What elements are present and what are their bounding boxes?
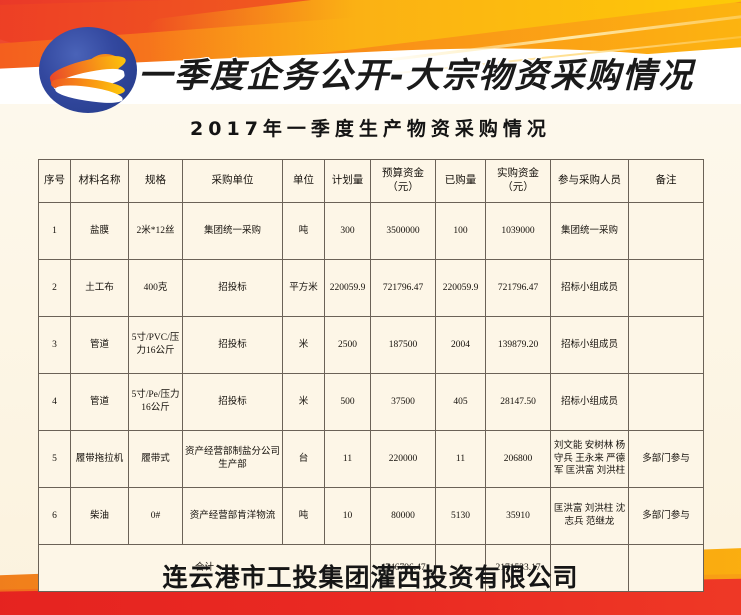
cell-unit: 台 bbox=[283, 431, 325, 488]
cell-people: 招标小组成员 bbox=[551, 260, 629, 317]
cell-spec: 0# bbox=[129, 488, 183, 545]
cell-unit: 米 bbox=[283, 317, 325, 374]
cell-purchase-unit: 招投标 bbox=[183, 260, 283, 317]
cell-unit: 吨 bbox=[283, 203, 325, 260]
cell-purchase-unit: 招投标 bbox=[183, 317, 283, 374]
cell-plan-qty: 500 bbox=[325, 374, 371, 431]
cell-remark: 多部门参与 bbox=[629, 431, 704, 488]
cell-spec: 履带式 bbox=[129, 431, 183, 488]
column-header-no: 序号 bbox=[39, 160, 71, 203]
column-header-material: 材料名称 bbox=[71, 160, 129, 203]
cell-spec: 2米*12丝 bbox=[129, 203, 183, 260]
cell-budget: 187500 bbox=[371, 317, 436, 374]
cell-remark bbox=[629, 317, 704, 374]
cell-spec: 5寸/PVC/压力16公斤 bbox=[129, 317, 183, 374]
cell-purchase-unit: 资产经营部制盐分公司生产部 bbox=[183, 431, 283, 488]
cell-material: 柴油 bbox=[71, 488, 129, 545]
cell-bought-qty: 220059.9 bbox=[436, 260, 486, 317]
cell-remark bbox=[629, 203, 704, 260]
cell-purchase-unit: 资产经营部肯洋物流 bbox=[183, 488, 283, 545]
footer-company-name: 连云港市工投集团灌西投资有限公司 bbox=[0, 558, 741, 594]
cell-unit: 平方米 bbox=[283, 260, 325, 317]
column-header-actual-line2: （元） bbox=[502, 182, 534, 193]
cell-unit: 米 bbox=[283, 374, 325, 431]
cell-plan-qty: 2500 bbox=[325, 317, 371, 374]
cell-people: 招标小组成员 bbox=[551, 317, 629, 374]
cell-remark: 多部门参与 bbox=[629, 488, 704, 545]
cell-actual: 721796.47 bbox=[486, 260, 551, 317]
table-header-row: 序号 材料名称 规格 采购单位 单位 计划量 预算资金 （元） 已购量 实购资金… bbox=[39, 160, 704, 203]
column-header-unit: 单位 bbox=[283, 160, 325, 203]
column-header-plan-qty: 计划量 bbox=[325, 160, 371, 203]
cell-plan-qty: 11 bbox=[325, 431, 371, 488]
column-header-budget: 预算资金 （元） bbox=[371, 160, 436, 203]
poster-page: 一季度企务公开-大宗物资采购情况 2017年一季度生产物资采购情况 序号 材料名… bbox=[0, 0, 741, 615]
cell-material: 管道 bbox=[71, 374, 129, 431]
cell-bought-qty: 405 bbox=[436, 374, 486, 431]
cell-no: 6 bbox=[39, 488, 71, 545]
cell-no: 2 bbox=[39, 260, 71, 317]
cell-actual: 139879.20 bbox=[486, 317, 551, 374]
cell-no: 1 bbox=[39, 203, 71, 260]
cell-no: 4 bbox=[39, 374, 71, 431]
cell-purchase-unit: 集团统一采购 bbox=[183, 203, 283, 260]
cell-plan-qty: 300 bbox=[325, 203, 371, 260]
cell-material: 履带拖拉机 bbox=[71, 431, 129, 488]
cell-budget: 220000 bbox=[371, 431, 436, 488]
column-header-budget-line2: （元） bbox=[387, 182, 419, 193]
cell-actual: 35910 bbox=[486, 488, 551, 545]
cell-remark bbox=[629, 374, 704, 431]
column-header-spec: 规格 bbox=[129, 160, 183, 203]
cell-remark bbox=[629, 260, 704, 317]
table-body: 1 盐膜 2米*12丝 集团统一采购 吨 300 3500000 100 103… bbox=[39, 203, 704, 592]
banner-title: 一季度企务公开-大宗物资采购情况 bbox=[138, 48, 694, 97]
cell-material: 土工布 bbox=[71, 260, 129, 317]
cell-people: 刘文能 安树林 杨守兵 王永来 严德军 匡洪富 刘洪柱 bbox=[551, 431, 629, 488]
column-header-actual-line1: 实购资金 bbox=[497, 168, 539, 179]
page-subtitle: 2017年一季度生产物资采购情况 bbox=[0, 114, 741, 141]
cell-people: 集团统一采购 bbox=[551, 203, 629, 260]
column-header-remark: 备注 bbox=[629, 160, 704, 203]
cell-budget: 721796.47 bbox=[371, 260, 436, 317]
procurement-table: 序号 材料名称 规格 采购单位 单位 计划量 预算资金 （元） 已购量 实购资金… bbox=[38, 159, 704, 592]
table-row: 5 履带拖拉机 履带式 资产经营部制盐分公司生产部 台 11 220000 11… bbox=[39, 431, 704, 488]
company-logo-icon bbox=[39, 27, 137, 113]
cell-bought-qty: 11 bbox=[436, 431, 486, 488]
cell-purchase-unit: 招投标 bbox=[183, 374, 283, 431]
cell-people: 招标小组成员 bbox=[551, 374, 629, 431]
cell-material: 管道 bbox=[71, 317, 129, 374]
cell-budget: 80000 bbox=[371, 488, 436, 545]
cell-material: 盐膜 bbox=[71, 203, 129, 260]
cell-bought-qty: 100 bbox=[436, 203, 486, 260]
cell-plan-qty: 10 bbox=[325, 488, 371, 545]
column-header-bought-qty: 已购量 bbox=[436, 160, 486, 203]
cell-bought-qty: 2004 bbox=[436, 317, 486, 374]
cell-no: 5 bbox=[39, 431, 71, 488]
table-header: 序号 材料名称 规格 采购单位 单位 计划量 预算资金 （元） 已购量 实购资金… bbox=[39, 160, 704, 203]
cell-plan-qty: 220059.9 bbox=[325, 260, 371, 317]
column-header-purchase-unit: 采购单位 bbox=[183, 160, 283, 203]
cell-budget: 3500000 bbox=[371, 203, 436, 260]
cell-unit: 吨 bbox=[283, 488, 325, 545]
column-header-people: 参与采购人员 bbox=[551, 160, 629, 203]
cell-spec: 400克 bbox=[129, 260, 183, 317]
table-row: 2 土工布 400克 招投标 平方米 220059.9 721796.47 22… bbox=[39, 260, 704, 317]
table-row: 4 管道 5寸/Pe/压力16公斤 招投标 米 500 37500 405 28… bbox=[39, 374, 704, 431]
procurement-table-wrapper: 序号 材料名称 规格 采购单位 单位 计划量 预算资金 （元） 已购量 实购资金… bbox=[38, 159, 703, 592]
cell-no: 3 bbox=[39, 317, 71, 374]
column-header-actual: 实购资金 （元） bbox=[486, 160, 551, 203]
cell-budget: 37500 bbox=[371, 374, 436, 431]
cell-actual: 1039000 bbox=[486, 203, 551, 260]
column-header-budget-line1: 预算资金 bbox=[382, 168, 424, 179]
table-row: 1 盐膜 2米*12丝 集团统一采购 吨 300 3500000 100 103… bbox=[39, 203, 704, 260]
cell-actual: 206800 bbox=[486, 431, 551, 488]
cell-people: 匡洪富 刘洪柱 沈志兵 范继龙 bbox=[551, 488, 629, 545]
cell-actual: 28147.50 bbox=[486, 374, 551, 431]
table-row: 6 柴油 0# 资产经营部肯洋物流 吨 10 80000 5130 35910 … bbox=[39, 488, 704, 545]
cell-spec: 5寸/Pe/压力16公斤 bbox=[129, 374, 183, 431]
table-row: 3 管道 5寸/PVC/压力16公斤 招投标 米 2500 187500 200… bbox=[39, 317, 704, 374]
cell-bought-qty: 5130 bbox=[436, 488, 486, 545]
